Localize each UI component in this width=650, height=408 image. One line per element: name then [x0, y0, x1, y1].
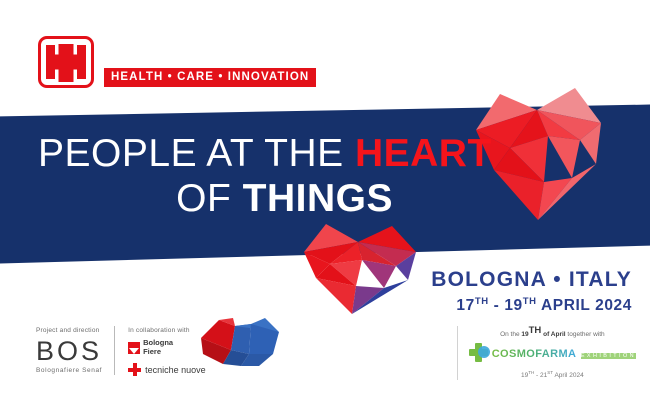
logo-bar-right: [77, 45, 86, 79]
cosmofarma-logo: COSMOFARMA EXHIBITION: [469, 343, 636, 362]
cosmofarma-caption: On the 19TH of April together with: [469, 326, 636, 339]
event-month-year: APRIL 2024: [537, 297, 632, 314]
collaboration-caption: In collaboration with: [128, 326, 206, 335]
tecniche-nuove-label: tecniche nuove: [145, 365, 206, 375]
cosmofarma-brand-subtitle: EXHIBITION: [581, 353, 636, 359]
bos-logo-text: BOS: [36, 337, 102, 366]
partner-bolognafiere: Bologna Fiere: [128, 339, 206, 356]
headline-strong-things: THINGS: [243, 177, 393, 220]
project-direction-block: Project and direction BOS Bolognafiere S…: [36, 326, 115, 375]
event-date-to: 19: [504, 297, 522, 314]
cosmofarma-block: On the 19TH of April together with COSMO…: [457, 326, 636, 380]
headline-accent-heart: HEART: [355, 132, 492, 175]
cosmofarma-caption-post: together with: [566, 331, 605, 338]
collaboration-block: In collaboration with Bologna Fiere tecn…: [115, 326, 218, 376]
event-date-from: 17: [456, 297, 474, 314]
event-date-to-suffix: TH: [523, 296, 537, 307]
event-dates: 17TH - 19TH APRIL 2024: [431, 292, 632, 315]
headline-block: PEOPLE AT THE HEART OF THINGS: [38, 132, 468, 222]
headline-line-1: PEOPLE AT THE HEART: [38, 132, 468, 176]
cosmofarma-caption-mid: of April: [541, 331, 565, 338]
poster-canvas: HEALTH • CARE • INNOVATION PEOPLE AT THE…: [0, 0, 650, 408]
cosmofarma-caption-pre: On the: [500, 331, 521, 338]
cosmofarma-caption-day: 19: [521, 331, 528, 338]
event-location: BOLOGNA • ITALY: [431, 268, 632, 292]
cosmofarma-wordmark: COSMOFARMA EXHIBITION: [492, 344, 636, 362]
low-poly-red-blue-heart-icon: [300, 222, 420, 318]
event-date-separator: -: [489, 297, 505, 314]
partner-tecniche-nuove: tecniche nuove: [128, 363, 206, 376]
cosmofarma-brand-name: COSMOFARMA: [492, 348, 577, 360]
headline-line-1-plain: PEOPLE AT THE: [38, 132, 355, 175]
cosmofarma-cross-circle-icon: [469, 343, 488, 362]
brand-logo: HEALTH • CARE • INNOVATION: [38, 36, 316, 88]
bolognafiere-line-2: Fiere: [143, 347, 161, 356]
project-direction-caption: Project and direction: [36, 326, 102, 335]
bos-logo-subtitle: Bolognafiere Senaf: [36, 366, 102, 375]
cosmofarma-dates: 19TH - 21ST April 2024: [469, 368, 636, 380]
bolognafiere-label: Bologna Fiere: [143, 339, 173, 356]
headline-line-2-plain: OF: [176, 177, 243, 220]
bolognafiere-icon: [128, 342, 140, 354]
headline-line-2: OF THINGS: [38, 176, 393, 222]
cosmofarma-caption-day-suffix: TH: [529, 325, 542, 336]
red-cross-h-logo-icon: [38, 36, 94, 88]
event-details: BOLOGNA • ITALY 17TH - 19TH APRIL 2024: [431, 268, 632, 315]
tecniche-nuove-cross-icon: [128, 363, 141, 376]
logo-bar-left: [46, 45, 55, 79]
cosmofarma-date-tail: April 2024: [553, 372, 584, 379]
brand-tagline: HEALTH • CARE • INNOVATION: [104, 68, 316, 87]
event-date-from-suffix: TH: [475, 296, 489, 307]
footer-credits: Project and direction BOS Bolognafiere S…: [36, 326, 218, 376]
